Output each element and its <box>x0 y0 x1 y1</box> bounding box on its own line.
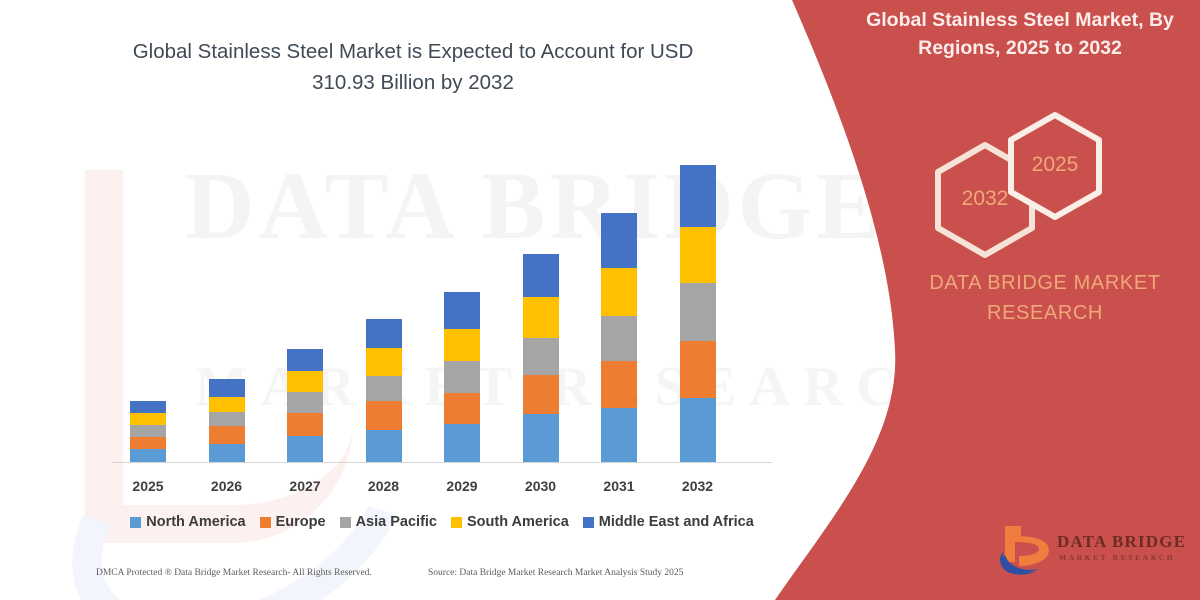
bar-segment-south-america <box>680 227 716 284</box>
bar-segment-middle-east-and-africa <box>209 379 245 396</box>
bar-2032 <box>680 165 716 462</box>
legend-label: Asia Pacific <box>356 514 437 530</box>
legend-item-north-america[interactable]: North America <box>130 514 245 530</box>
bar-segment-asia-pacific <box>130 425 166 437</box>
bar-segment-north-america <box>523 414 559 462</box>
bar-segment-europe <box>366 401 402 430</box>
bar-segment-middle-east-and-africa <box>444 292 480 328</box>
bar-segment-middle-east-and-africa <box>366 319 402 348</box>
bar-segment-north-america <box>287 436 323 462</box>
hexagon-2025: 2025 <box>1006 111 1104 221</box>
legend-label: South America <box>467 514 569 530</box>
legend-swatch-icon <box>260 517 271 528</box>
bar-segment-north-america <box>130 449 166 461</box>
legend-item-south-america[interactable]: South America <box>451 514 569 530</box>
x-tick-2029: 2029 <box>432 478 492 494</box>
brand-line-2: RESEARCH <box>880 298 1200 328</box>
bar-segment-europe <box>680 341 716 398</box>
logo-subtitle: MARKET RESEARCH <box>1059 553 1175 562</box>
logo-wordmark: DATA BRIDGE <box>1057 532 1186 552</box>
bar-segment-north-america <box>444 424 480 462</box>
bar-segment-north-america <box>366 430 402 462</box>
bar-segment-asia-pacific <box>523 338 559 374</box>
legend-item-europe[interactable]: Europe <box>260 514 326 530</box>
bar-segment-middle-east-and-africa <box>130 401 166 413</box>
bar-segment-middle-east-and-africa <box>523 254 559 297</box>
bar-segment-asia-pacific <box>209 412 245 426</box>
legend-swatch-icon <box>451 517 462 528</box>
legend-swatch-icon <box>130 517 141 528</box>
bar-segment-south-america <box>209 397 245 412</box>
infographic-canvas: DATA BRIDGE MARKET RESEARCH Global Stain… <box>0 0 1200 600</box>
bar-segment-south-america <box>287 371 323 392</box>
chart-legend: North AmericaEuropeAsia PacificSouth Ame… <box>112 514 772 530</box>
bar-segment-asia-pacific <box>287 392 323 413</box>
bar-2028 <box>366 319 402 462</box>
data-bridge-logo: DATA BRIDGE MARKET RESEARCH <box>995 522 1195 584</box>
x-tick-2025: 2025 <box>118 478 178 494</box>
bar-2029 <box>444 292 480 462</box>
bar-2027 <box>287 349 323 462</box>
legend-swatch-icon <box>583 517 594 528</box>
bar-segment-south-america <box>366 348 402 376</box>
bar-segment-europe <box>130 437 166 449</box>
legend-label: Europe <box>276 514 326 530</box>
hexagon-2025-label: 2025 <box>1006 153 1104 177</box>
bar-segment-south-america <box>601 268 637 316</box>
legend-item-asia-pacific[interactable]: Asia Pacific <box>340 514 437 530</box>
bar-segment-europe <box>601 361 637 408</box>
x-tick-2026: 2026 <box>197 478 257 494</box>
legend-swatch-icon <box>340 517 351 528</box>
logo-mark-icon <box>995 522 1057 580</box>
bar-segment-europe <box>523 375 559 414</box>
bar-segment-south-america <box>444 329 480 362</box>
x-tick-2027: 2027 <box>275 478 335 494</box>
x-tick-2032: 2032 <box>668 478 728 494</box>
bar-segment-europe <box>287 413 323 436</box>
bar-segment-asia-pacific <box>680 283 716 341</box>
x-tick-2030: 2030 <box>511 478 571 494</box>
footer-copyright: DMCA Protected ® Data Bridge Market Rese… <box>96 568 372 578</box>
panel-title: Global Stainless Steel Market, By Region… <box>850 6 1190 62</box>
bar-2031 <box>601 213 637 462</box>
legend-item-middle-east-and-africa[interactable]: Middle East and Africa <box>583 514 754 530</box>
bar-segment-south-america <box>130 413 166 425</box>
legend-label: Middle East and Africa <box>599 514 754 530</box>
bar-segment-south-america <box>523 297 559 338</box>
bar-segment-middle-east-and-africa <box>680 165 716 226</box>
bar-segment-europe <box>444 393 480 424</box>
bar-segment-middle-east-and-africa <box>287 349 323 371</box>
x-axis-line <box>112 462 772 463</box>
bar-segment-middle-east-and-africa <box>601 213 637 268</box>
bar-segment-asia-pacific <box>444 361 480 393</box>
stacked-bar-chart: 20252026202720282029203020312032 <box>0 0 790 520</box>
bar-2025 <box>130 401 166 462</box>
x-tick-2028: 2028 <box>354 478 414 494</box>
bar-segment-asia-pacific <box>601 316 637 361</box>
bar-segment-europe <box>209 426 245 443</box>
legend-label: North America <box>146 514 245 530</box>
bar-segment-asia-pacific <box>366 376 402 402</box>
brand-block: DATA BRIDGE MARKET RESEARCH <box>880 268 1200 328</box>
bar-2026 <box>209 379 245 462</box>
bar-segment-north-america <box>680 398 716 462</box>
x-tick-2031: 2031 <box>589 478 649 494</box>
bar-2030 <box>523 254 559 462</box>
footer-source: Source: Data Bridge Market Research Mark… <box>428 568 683 578</box>
brand-line-1: DATA BRIDGE MARKET <box>880 268 1200 298</box>
bar-segment-north-america <box>209 444 245 462</box>
bar-segment-north-america <box>601 408 637 462</box>
